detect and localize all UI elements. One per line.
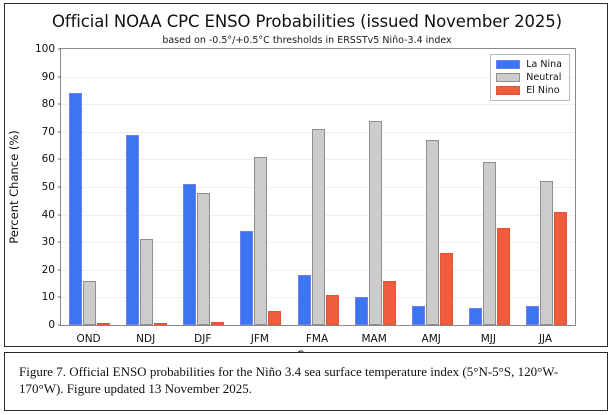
y-tick-mark [58,187,61,188]
bar-neutral-fma [312,129,325,325]
caption-frame: Figure 7. Official ENSO probabilities fo… [4,352,608,411]
legend-item-neutral[interactable]: Neutral [496,72,562,83]
x-tick-label-mjj: MJJ [481,333,496,345]
y-tick-label: 10 [42,291,55,303]
legend-label: Neutral [526,72,561,83]
x-tick-label-fma: FMA [306,333,328,345]
bar-el-nino-ond [97,323,110,325]
x-tick-label-ndj: NDJ [136,333,155,345]
bar-neutral-ndj [140,239,153,325]
gridline [61,104,575,105]
y-tick-mark [58,214,61,215]
bar-neutral-mam [369,121,382,325]
figure-caption: Figure 7. Official ENSO probabilities fo… [19,363,599,397]
y-tick-mark [58,49,61,50]
bar-neutral-djf [197,193,210,325]
x-tick-label-mam: MAM [361,333,386,345]
y-tick-mark [58,159,61,160]
y-tick-mark [58,76,61,77]
bar-la-nina-amj [412,306,425,325]
y-tick-mark [58,297,61,298]
y-tick-label: 0 [48,319,55,331]
y-tick-label: 50 [42,181,55,193]
figure-page: Official NOAA CPC ENSO Probabilities (is… [0,0,612,415]
bar-neutral-amj [426,140,439,325]
chart-subtitle: based on -0.5°/+0.5°C thresholds in ERSS… [5,35,609,46]
bar-el-nino-djf [211,322,224,325]
y-tick-label: 30 [42,236,55,248]
bar-la-nina-jja [526,306,539,325]
bar-el-nino-jfm [268,311,281,325]
bar-la-nina-mjj [469,308,482,325]
y-tick-mark [58,131,61,132]
y-tick-mark [58,269,61,270]
bar-la-nina-djf [183,184,196,325]
x-tick-label-jfm: JFM [251,333,269,345]
bar-el-nino-ndj [154,323,167,325]
bar-el-nino-mjj [497,228,510,325]
bar-la-nina-ond [69,93,82,325]
y-tick-label: 40 [42,209,55,221]
x-tick-label-ond: OND [76,333,100,345]
y-tick-label: 20 [42,264,55,276]
legend-swatch-el-nino [496,86,520,95]
bar-neutral-ond [83,281,96,325]
bar-el-nino-jja [554,212,567,325]
bar-neutral-jja [540,181,553,325]
y-tick-label: 60 [42,153,55,165]
x-tick-label-amj: AMJ [422,333,441,345]
chart-figure: Official NOAA CPC ENSO Probabilities (is… [4,3,608,347]
x-tick-label-jja: JJA [539,333,552,345]
y-tick-mark [58,325,61,326]
legend-label: El Nino [526,85,559,96]
y-tick-label: 80 [42,98,55,110]
legend-swatch-la-nina [496,60,520,69]
bar-el-nino-amj [440,253,453,325]
bar-la-nina-ndj [126,135,139,325]
chart-legend: La NinaNeutralEl Nino [490,54,570,101]
bar-la-nina-jfm [240,231,253,325]
y-axis-title: Percent Chance (%) [7,130,21,244]
bar-la-nina-mam [355,297,368,325]
plot-wrap: 0102030405060708090100 Percent Chance (%… [60,48,576,326]
y-tick-label: 100 [35,43,55,55]
legend-item-el-nino[interactable]: El Nino [496,85,562,96]
y-tick-mark [58,104,61,105]
bar-neutral-jfm [254,157,267,325]
bar-el-nino-fma [326,295,339,325]
bar-neutral-mjj [483,162,496,325]
legend-item-la-nina[interactable]: La Nina [496,59,562,70]
bar-la-nina-fma [298,275,311,325]
y-tick-mark [58,242,61,243]
chart-title: Official NOAA CPC ENSO Probabilities (is… [5,12,609,31]
y-tick-label: 90 [42,71,55,83]
bar-el-nino-mam [383,281,396,325]
y-tick-label: 70 [42,126,55,138]
legend-swatch-neutral [496,73,520,82]
legend-label: La Nina [526,59,562,70]
x-tick-label-djf: DJF [194,333,211,345]
